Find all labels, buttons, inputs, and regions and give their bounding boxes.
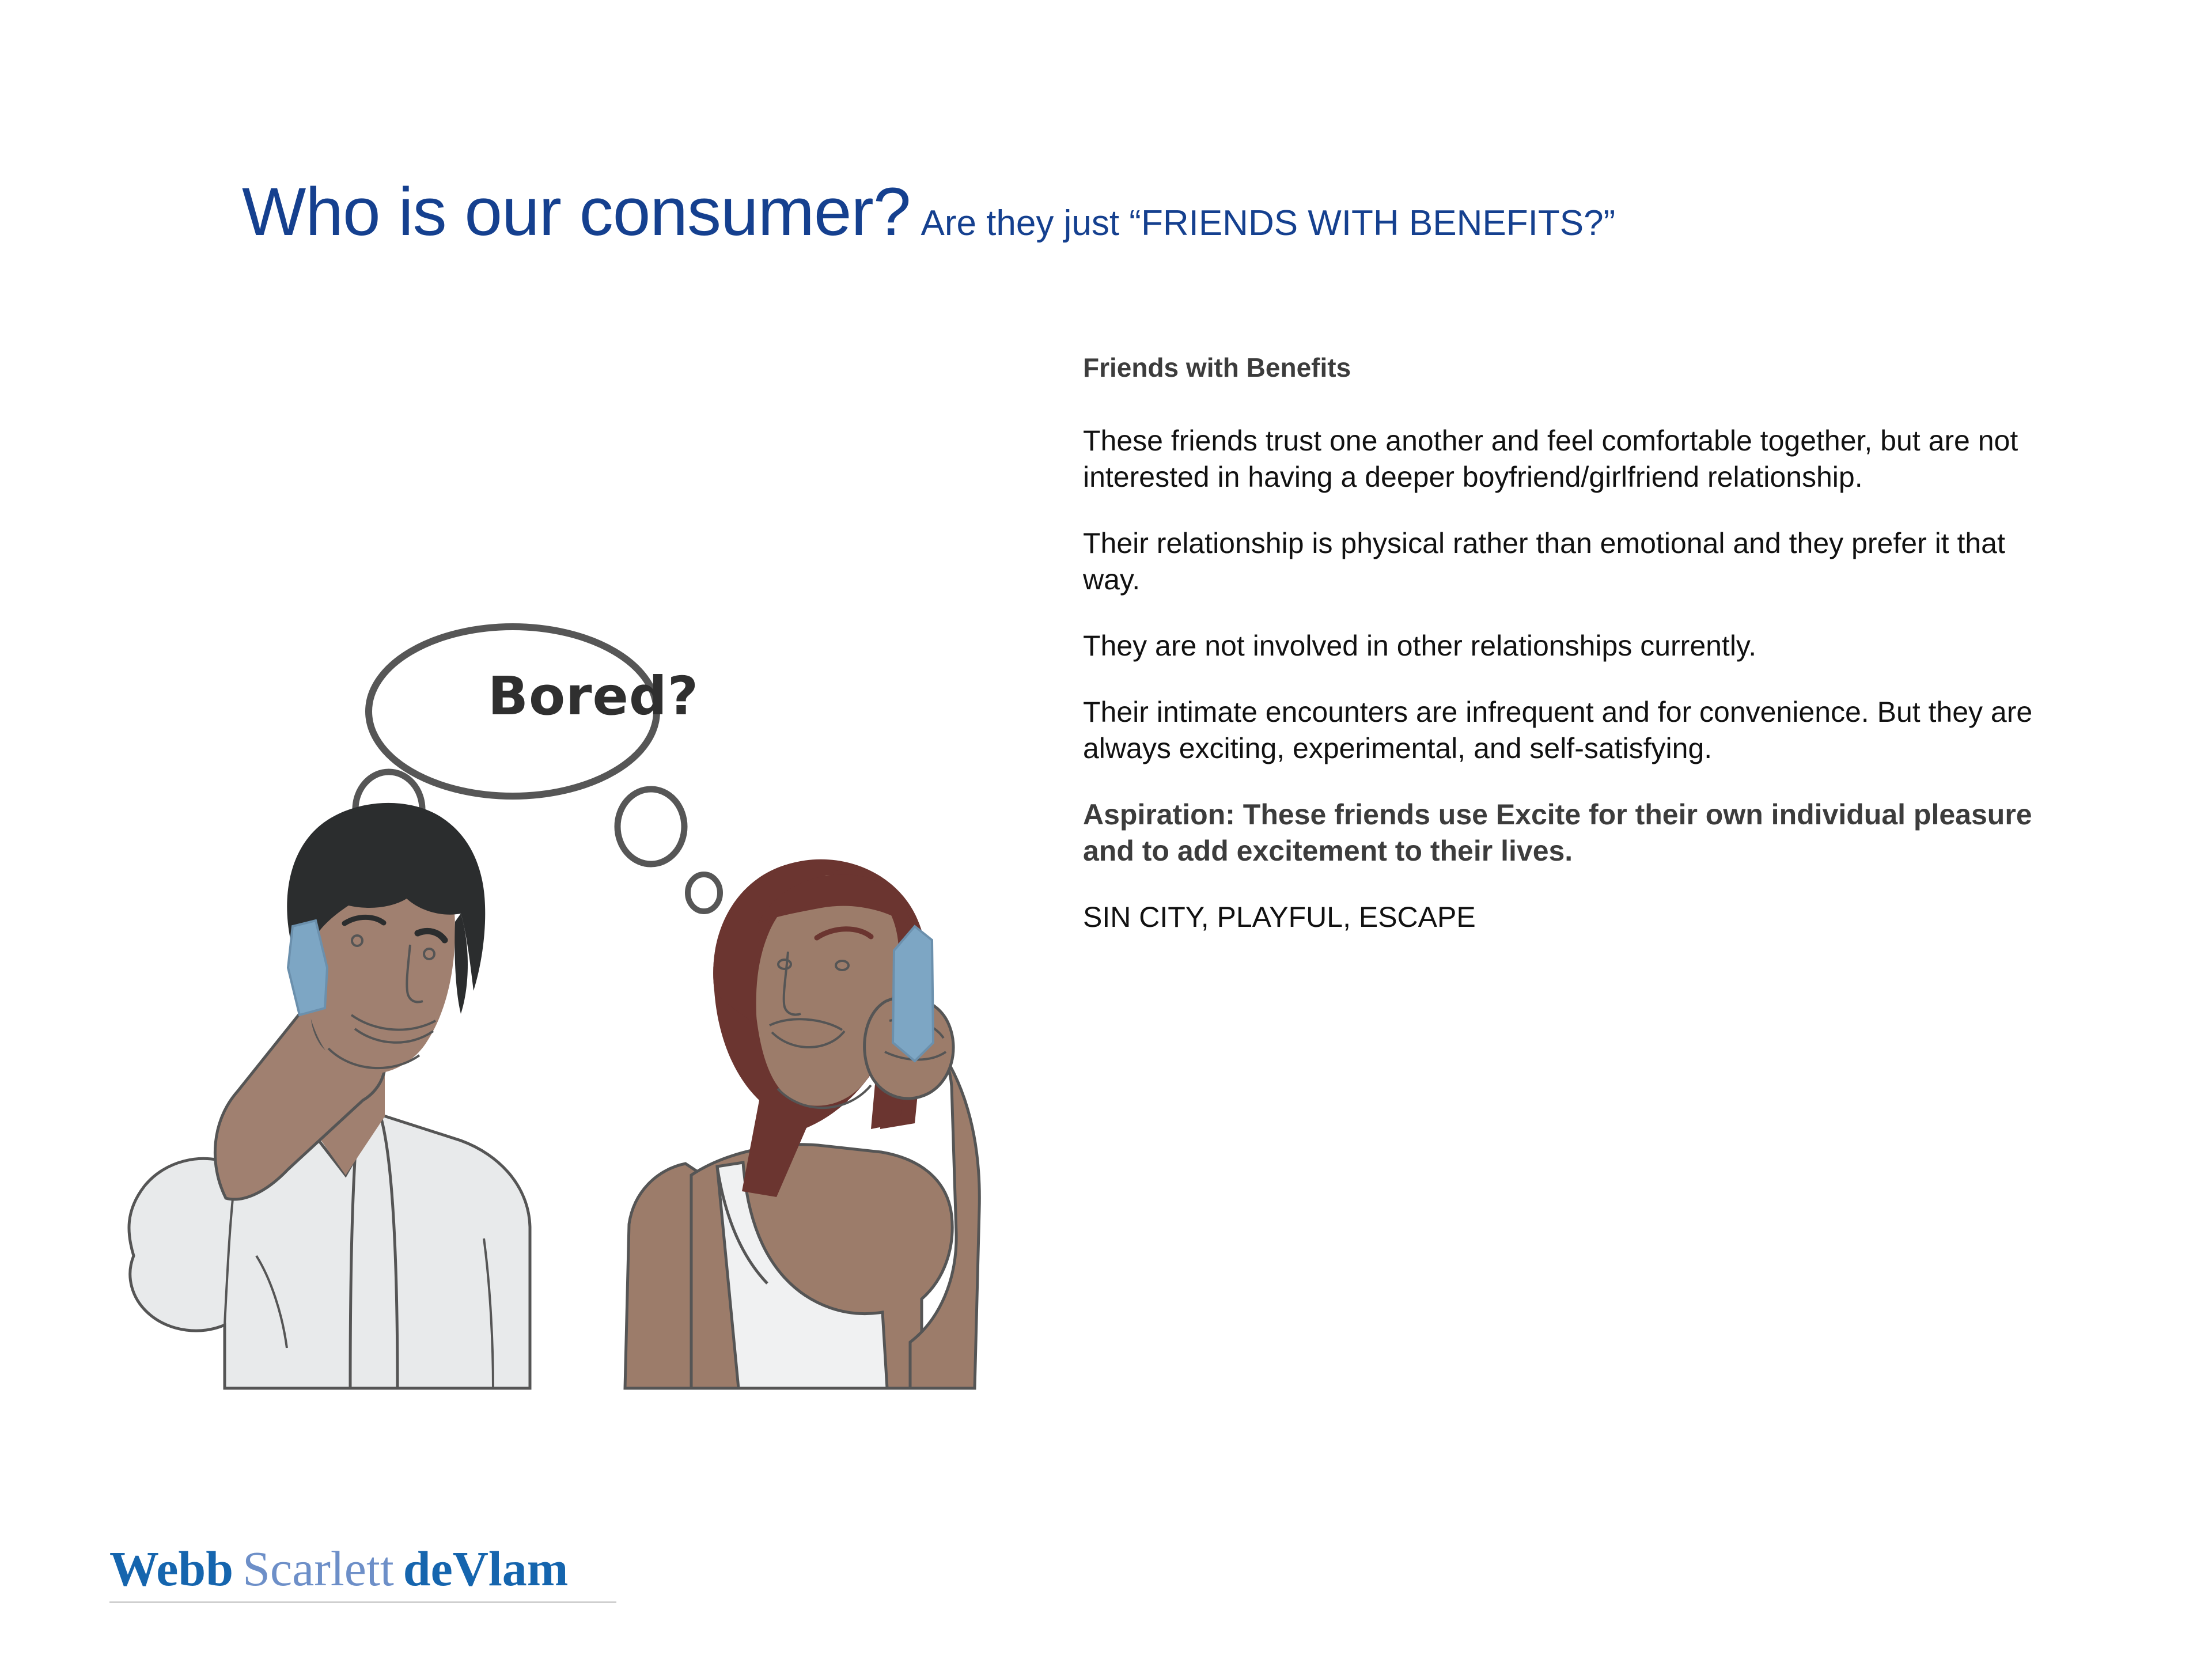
copy-keywords: SIN CITY, PLAYFUL, ESCAPE — [1083, 899, 2051, 935]
woman-phone — [893, 926, 933, 1061]
thought-bubble-trail-right-small — [688, 874, 720, 911]
logo-word-webb: Webb — [109, 1541, 233, 1596]
brand-logo: WebbScarlettdeVlam — [109, 1544, 628, 1603]
logo-word-scarlett: Scarlett — [243, 1541, 394, 1596]
copy-aspiration: Aspiration: These friends use Excite for… — [1083, 797, 2051, 869]
logo-word-devlam: deVlam — [403, 1541, 569, 1596]
page-title: Who is our consumer?Are they just “FRIEN… — [242, 173, 1615, 251]
copy-paragraph-1: These friends trust one another and feel… — [1083, 423, 2051, 495]
copy-paragraph-2: Their relationship is physical rather th… — [1083, 525, 2051, 598]
copy-paragraph-3: They are not involved in other relations… — [1083, 628, 2051, 664]
logo-wordmark: WebbScarlettdeVlam — [109, 1544, 628, 1593]
thought-bubble-trail-right-large — [618, 789, 684, 864]
man-figure — [129, 803, 530, 1388]
woman-figure — [625, 859, 979, 1388]
copy-heading: Friends with Benefits — [1083, 351, 2051, 385]
title-main-text: Who is our consumer? — [242, 174, 910, 250]
title-subtitle-text: Are they just “FRIENDS WITH BENEFITS?” — [921, 203, 1615, 243]
thought-bubble-label: Bored? — [472, 665, 714, 727]
logo-divider — [109, 1601, 616, 1603]
copy-paragraph-4: Their intimate encounters are infrequent… — [1083, 694, 2051, 767]
consumer-description-panel: Friends with Benefits These friends trus… — [1083, 351, 2051, 935]
